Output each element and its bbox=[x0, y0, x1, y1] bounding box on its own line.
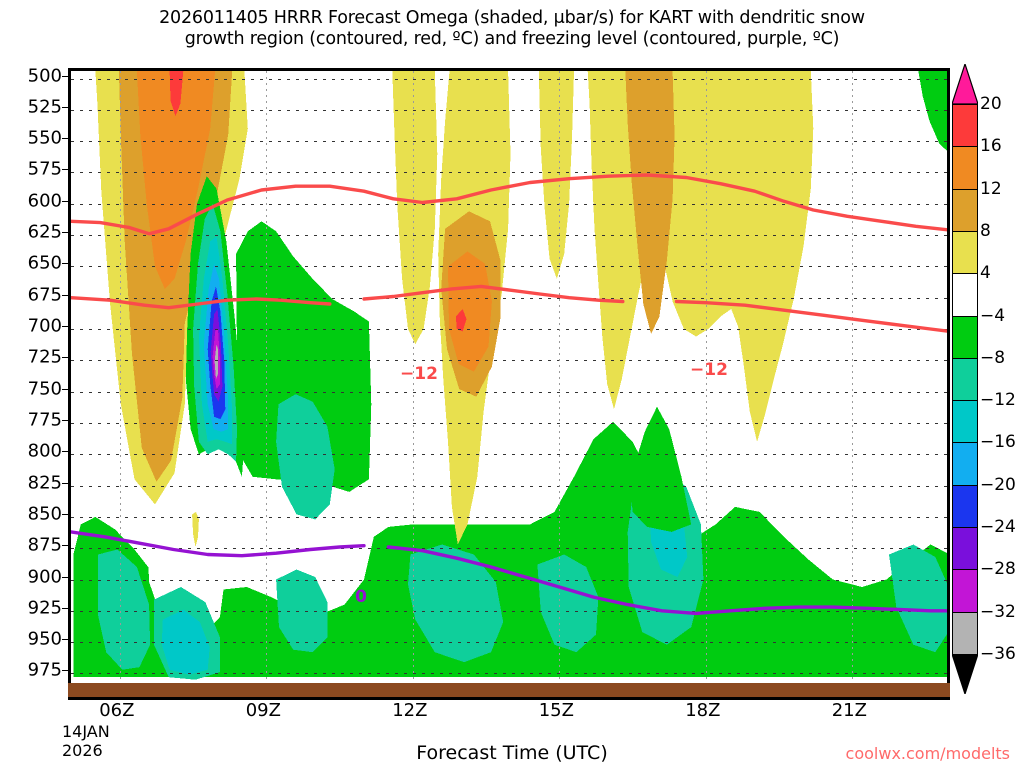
y-axis-label: 575 bbox=[28, 159, 62, 180]
brand-watermark: coolwx.com/modelts bbox=[846, 744, 1010, 763]
colorbar-swatch bbox=[952, 358, 978, 401]
contour-label: −12 bbox=[690, 360, 728, 380]
y-axis-label: 800 bbox=[28, 441, 62, 462]
colorbar-swatch bbox=[952, 189, 978, 232]
contour-line bbox=[71, 298, 330, 308]
colorbar-tick-label: −32 bbox=[980, 602, 1016, 622]
colorbar-tick-label: −16 bbox=[980, 432, 1016, 452]
contour-line bbox=[364, 286, 623, 301]
contour-line bbox=[677, 302, 951, 332]
page-title: 2026011405 HRRR Forecast Omega (shaded, … bbox=[0, 8, 1024, 50]
colorbar-tick-label: 16 bbox=[980, 136, 1002, 156]
colorbar-tick-label: 12 bbox=[980, 179, 1002, 199]
colorbar-tick-label: 8 bbox=[980, 221, 991, 241]
y-axis-label: 950 bbox=[28, 629, 62, 650]
title-line-1: 2026011405 HRRR Forecast Omega (shaded, … bbox=[159, 8, 865, 28]
y-axis-label: 975 bbox=[28, 660, 62, 681]
colorbar-swatch bbox=[952, 273, 978, 316]
x-axis-label: 06Z bbox=[99, 700, 134, 721]
colorbar-tick-label: −4 bbox=[980, 306, 1005, 326]
y-axis-label: 600 bbox=[28, 190, 62, 211]
x-axis-label: 09Z bbox=[246, 700, 281, 721]
contour-line bbox=[71, 532, 364, 556]
colorbar-tick-label: −12 bbox=[980, 390, 1016, 410]
colorbar-tick-label: −24 bbox=[980, 517, 1016, 537]
chart-page: 2026011405 HRRR Forecast Omega (shaded, … bbox=[0, 0, 1024, 768]
colorbar-swatch bbox=[952, 146, 978, 189]
colorbar-swatch bbox=[952, 527, 978, 570]
x-axis-label: 18Z bbox=[685, 700, 720, 721]
contour-label: 0 bbox=[355, 587, 367, 607]
colorbar-swatch bbox=[952, 442, 978, 485]
y-axis-label: 550 bbox=[28, 128, 62, 149]
y-axis-label: 750 bbox=[28, 378, 62, 399]
y-axis-label: 500 bbox=[28, 65, 62, 86]
colorbar-swatch bbox=[952, 569, 978, 612]
y-axis-label: 700 bbox=[28, 316, 62, 337]
colorbar-tick-label: −28 bbox=[980, 559, 1016, 579]
y-axis-label: 625 bbox=[28, 222, 62, 243]
x-axis-label: 15Z bbox=[539, 700, 574, 721]
y-axis-label: 925 bbox=[28, 597, 62, 618]
plot-area bbox=[68, 68, 950, 686]
date-line-1: 14JAN bbox=[62, 722, 110, 741]
y-axis-label: 850 bbox=[28, 503, 62, 524]
contour-label: −12 bbox=[400, 364, 438, 384]
y-axis-label: 900 bbox=[28, 566, 62, 587]
contour-overlay bbox=[71, 71, 950, 686]
terrain-band bbox=[68, 683, 950, 697]
colorbar-swatch bbox=[952, 104, 978, 147]
x-axis-label: 12Z bbox=[392, 700, 427, 721]
colorbar-tick-label: 20 bbox=[980, 94, 1002, 114]
y-axis-label: 525 bbox=[28, 96, 62, 117]
y-axis: 5005255505756006256506757007257507758008… bbox=[0, 0, 62, 768]
colorbar-tick-label: −36 bbox=[980, 644, 1016, 664]
y-axis-label: 875 bbox=[28, 535, 62, 556]
colorbar-swatch bbox=[952, 231, 978, 274]
y-axis-label: 725 bbox=[28, 347, 62, 368]
title-line-2: growth region (contoured, red, ºC) and f… bbox=[0, 29, 1024, 50]
contour-line bbox=[71, 175, 950, 234]
y-axis-label: 825 bbox=[28, 472, 62, 493]
colorbar-swatch bbox=[952, 316, 978, 359]
colorbar: 20161284−4−8−12−16−20−24−28−32−36 bbox=[952, 104, 978, 654]
colorbar-swatch bbox=[952, 612, 978, 655]
x-axis-label: 21Z bbox=[832, 700, 867, 721]
colorbar-over-arrow bbox=[952, 64, 978, 104]
y-axis-label: 675 bbox=[28, 284, 62, 305]
colorbar-swatch bbox=[952, 400, 978, 443]
colorbar-tick-label: −20 bbox=[980, 475, 1016, 495]
colorbar-under-arrow bbox=[952, 654, 978, 694]
contour-line bbox=[388, 547, 950, 613]
colorbar-tick-label: 4 bbox=[980, 263, 991, 283]
colorbar-tick-label: −8 bbox=[980, 348, 1005, 368]
colorbar-swatch bbox=[952, 485, 978, 528]
y-axis-label: 775 bbox=[28, 409, 62, 430]
y-axis-label: 650 bbox=[28, 253, 62, 274]
